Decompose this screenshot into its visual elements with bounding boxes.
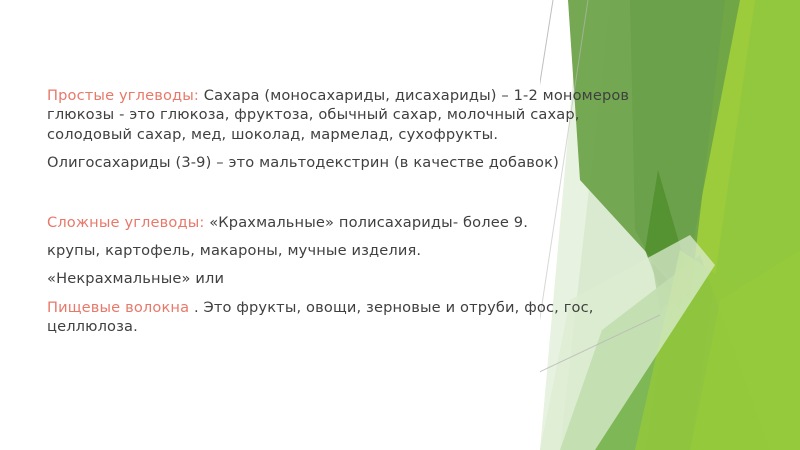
lime-panel-right (645, 0, 800, 450)
accent-simple-carbs: Простые углеводы: (47, 87, 199, 104)
dark-green-sliver (652, 262, 676, 312)
empty-paragraph-spacer (47, 175, 647, 189)
paragraph-complex-carbs: Сложные углеводы: «Крахмальные» полисаха… (47, 213, 647, 232)
text-oligosaccharides: Олигосахариды (3-9) – это мальтодекстрин… (47, 154, 559, 171)
paragraph-dietary-fiber: Пищевые волокна . Это фрукты, овощи, зер… (47, 298, 647, 337)
lime-panel-secondary (690, 0, 800, 450)
paragraph-simple-carbs: Простые углеводы: Сахара (моносахариды, … (47, 86, 647, 144)
dark-green-wedge (645, 170, 690, 310)
lime-corner-bottom-right (690, 250, 800, 450)
paragraph-grain-foods: крупы, картофель, макароны, мучные издел… (47, 241, 647, 260)
text-complex-carbs: «Крахмальные» полисахариды- более 9. (204, 214, 528, 231)
text-grain-foods: крупы, картофель, макароны, мучные издел… (47, 242, 421, 259)
slide-body-text: Простые углеводы: Сахара (моносахариды, … (47, 86, 647, 339)
paragraph-nonstarch: «Некрахмальные» или (47, 269, 647, 288)
lime-overlay-bottom (635, 250, 800, 450)
text-nonstarch: «Некрахмальные» или (47, 270, 224, 287)
presentation-slide: Простые углеводы: Сахара (моносахариды, … (0, 0, 800, 450)
paragraph-oligosaccharides: Олигосахариды (3-9) – это мальтодекстрин… (47, 153, 647, 172)
accent-dietary-fiber: Пищевые волокна (47, 299, 189, 316)
accent-complex-carbs: Сложные углеводы: (47, 214, 204, 231)
